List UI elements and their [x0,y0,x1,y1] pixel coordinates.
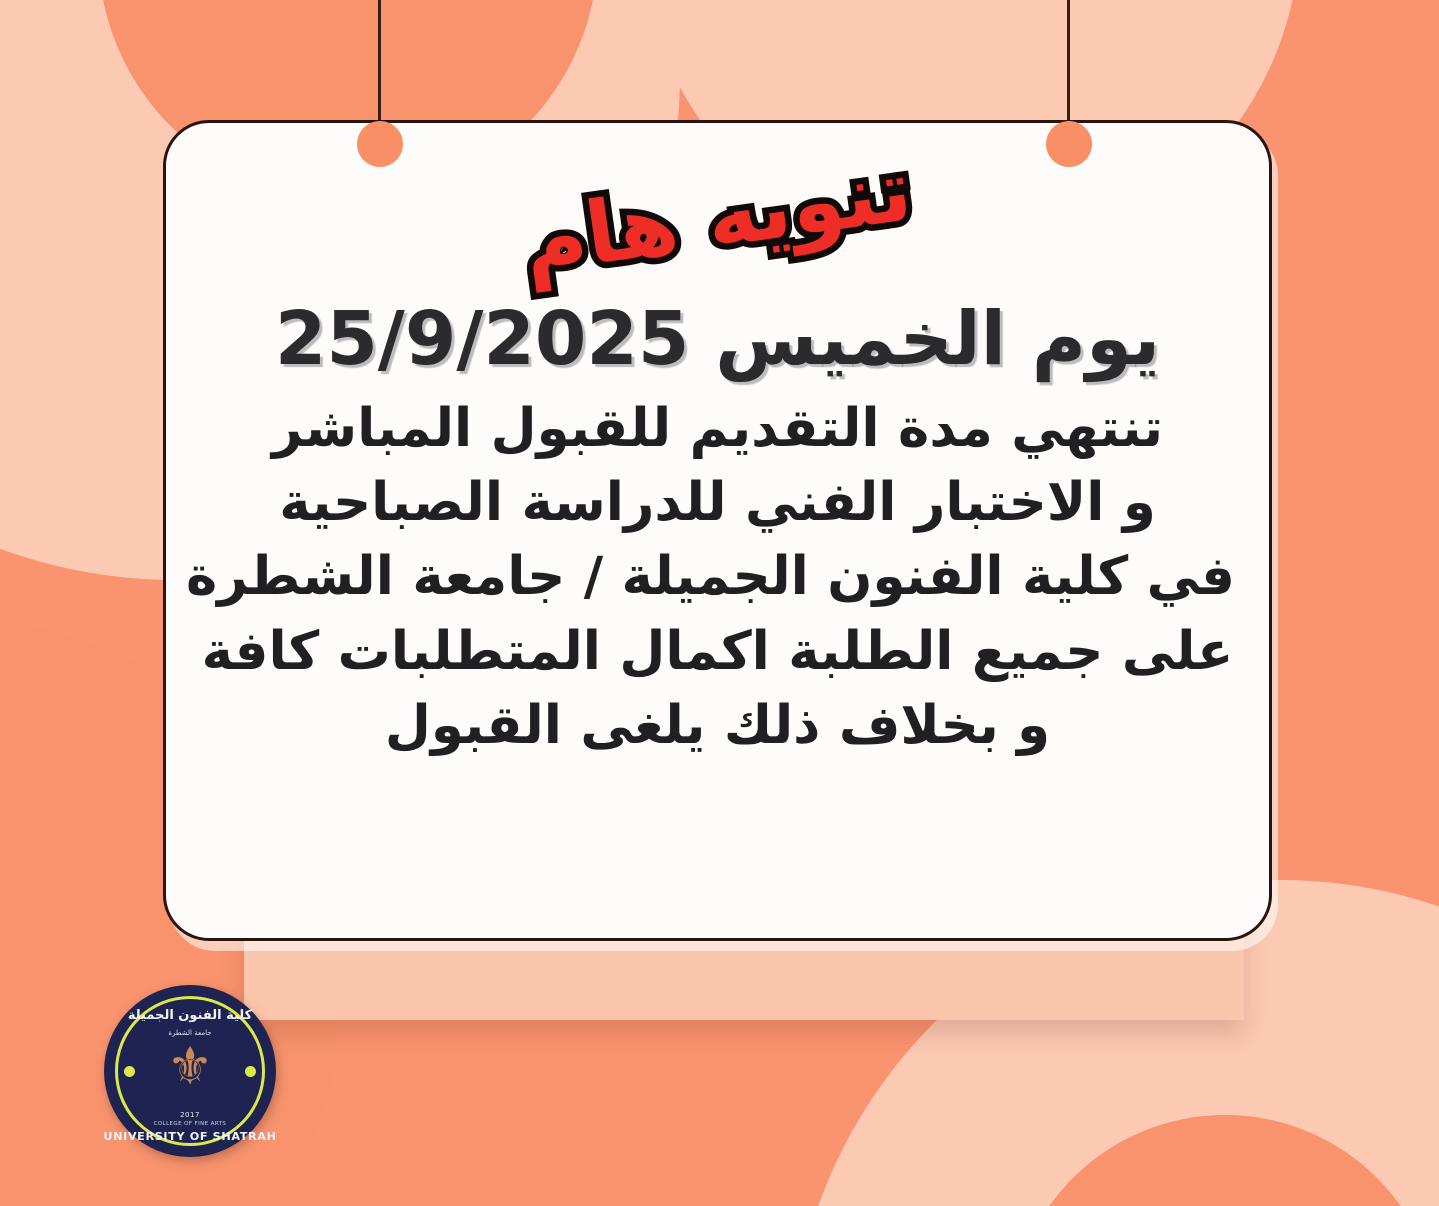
notice-card: تنويه هام يوم الخميس 25/9/2025 تنتهي مدة… [163,120,1272,941]
seal-arabic-university: جامعة الشطرة [104,1029,276,1037]
notice-body-line: و بخلاف ذلك يلغى القبول [200,689,1235,763]
notice-body-line: و الاختبار الفني للدراسة الصباحية [200,466,1235,540]
seal-english-college: COLLEGE OF FINE ARTS [104,1121,276,1127]
hanging-pin-left [357,121,403,167]
background-circle-bottom-right [1010,1115,1439,1206]
notice-body: تنتهي مدة التقديم للقبول المباشر و الاخت… [200,392,1235,763]
deadline-date-line: يوم الخميس 25/9/2025 [200,301,1235,378]
seal-founding-year: 2017 [104,1111,276,1119]
notice-body-line: تنتهي مدة التقديم للقبول المباشر [200,392,1235,466]
fine-arts-emblem-icon: ⚜ [104,1041,276,1093]
seal-english-university: UNIVERSITY OF SHATRAH [102,1130,277,1143]
notice-card-content: تنويه هام يوم الخميس 25/9/2025 تنتهي مدة… [166,123,1269,938]
notice-body-line: في كلية الفنون الجميلة / جامعة الشطرة [200,540,1235,614]
headline-important-notice: تنويه هام [518,147,917,287]
notice-body-line: على جميع الطلبة اكمال المتطلبات كافة [200,615,1235,689]
university-seal-logo: كلية الفنون الجميلة جامعة الشطرة ⚜ 2017 … [104,985,276,1157]
seal-arabic-college-name: كلية الفنون الجميلة [104,1009,276,1023]
hanging-pin-right [1046,121,1092,167]
announcement-poster: تنويه هام يوم الخميس 25/9/2025 تنتهي مدة… [0,0,1439,1206]
